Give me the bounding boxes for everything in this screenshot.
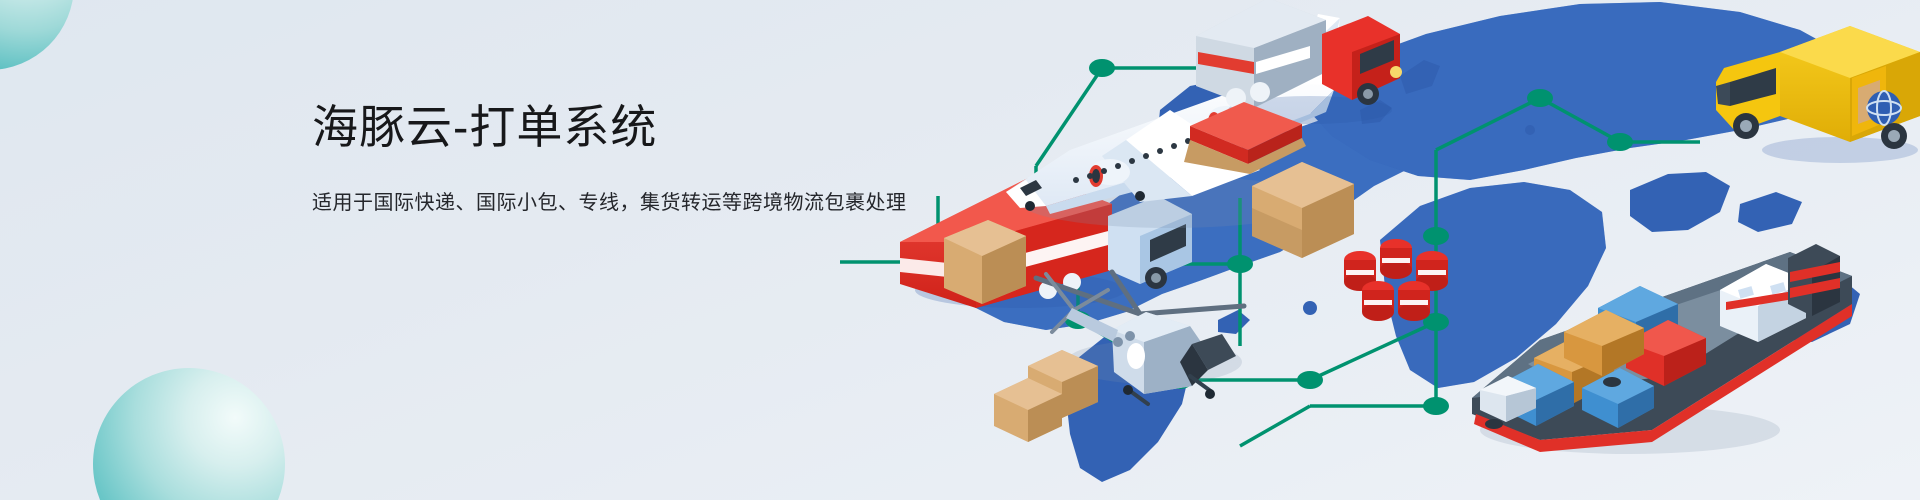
hero-text-block: 海豚云-打单系统 适用于国际快递、国际小包、专线，集货转运等跨境物流包裹处理 <box>312 100 932 218</box>
deco-circle-top-left-icon <box>0 0 74 70</box>
page-title: 海豚云-打单系统 <box>312 100 932 154</box>
deco-circle-bottom-left-icon <box>93 368 285 500</box>
page-subtitle: 适用于国际快递、国际小包、专线，集货转运等跨境物流包裹处理 <box>312 188 932 218</box>
hero-banner: 海豚云-打单系统 适用于国际快递、国际小包、专线，集货转运等跨境物流包裹处理 <box>0 0 1920 500</box>
logistics-illustration <box>840 0 1920 500</box>
